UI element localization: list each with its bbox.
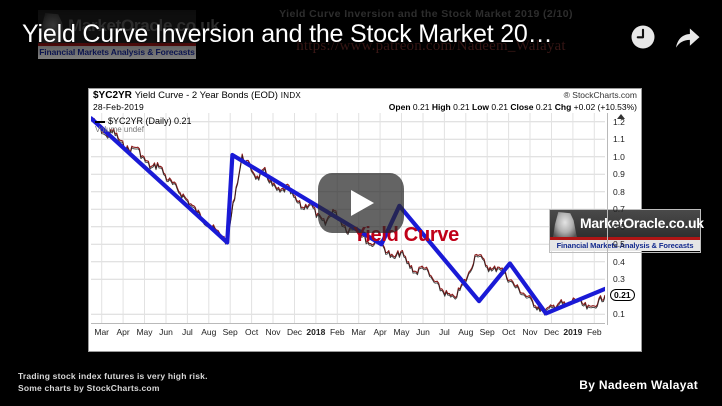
risk-disclaimer: Trading stock index futures is very high… <box>18 370 208 394</box>
x-axis-tick: Nov <box>265 327 280 337</box>
chart-date: 28-Feb-2019 <box>93 102 144 112</box>
x-axis-tick: Jul <box>182 327 193 337</box>
chart-volume-legend: Volume undef <box>95 125 144 134</box>
play-triangle-icon <box>351 190 374 216</box>
disclaimer-line-2: Some charts by StockCharts.com <box>18 382 208 394</box>
chart-ohlc-row: Open 0.21 High 0.21 Low 0.21 Close 0.21 … <box>389 102 637 112</box>
disclaimer-line-1: Trading stock index futures is very high… <box>18 370 208 382</box>
x-axis-tick: Apr <box>373 327 386 337</box>
chart-symbol: $YC2YR <box>93 90 132 101</box>
video-player[interactable]: MarketOracle.co.uk Financial Markets Ana… <box>0 0 722 406</box>
x-axis-tick: May <box>393 327 409 337</box>
ohlc-open-value: 0.21 <box>413 102 430 112</box>
chart-exchange: INDX <box>281 91 301 100</box>
y-axis-tick: 0.3 <box>613 274 625 284</box>
x-axis-tick: Jun <box>416 327 430 337</box>
y-axis-tick: 0.7 <box>613 204 625 214</box>
y-axis-tick: 0.1 <box>613 309 625 319</box>
slide-title: Yield Curve Inversion and the Stock Mark… <box>216 8 636 20</box>
clock-icon <box>628 22 658 52</box>
ohlc-close-label: Close <box>510 102 533 112</box>
share-arrow-icon <box>672 22 702 52</box>
chart-y-axis: 1.21.11.00.90.80.70.60.50.40.30.10.21 <box>607 113 640 325</box>
ohlc-high-value: 0.21 <box>453 102 470 112</box>
y-axis-last-value-badge: 0.21 <box>610 289 635 301</box>
x-axis-tick: Mar <box>351 327 366 337</box>
author-byline: By Nadeem Walayat <box>579 378 698 392</box>
watermark-brand-text: MarketOracle.co.uk <box>580 215 704 231</box>
ohlc-high-label: High <box>432 102 451 112</box>
x-axis-tick: May <box>136 327 152 337</box>
y-axis-tick: 0.5 <box>613 239 625 249</box>
y-axis-tick: 1.0 <box>613 152 625 162</box>
y-axis-tick: 0.6 <box>613 222 625 232</box>
legend-dash-icon <box>95 121 105 123</box>
ohlc-chg-label: Chg <box>555 102 572 112</box>
x-axis-tick: Oct <box>502 327 515 337</box>
chart-description: Yield Curve - 2 Year Bonds (EOD) <box>135 90 278 101</box>
ohlc-open-label: Open <box>389 102 411 112</box>
x-axis-tick: Feb <box>587 327 602 337</box>
watch-later-icon[interactable] <box>628 22 658 52</box>
share-button[interactable] <box>672 22 702 52</box>
x-axis-tick: 2018 <box>306 327 325 337</box>
y-axis-tick: 0.8 <box>613 187 625 197</box>
x-axis-tick: Feb <box>330 327 345 337</box>
x-axis-tick: Nov <box>522 327 537 337</box>
x-axis-tick: Aug <box>458 327 473 337</box>
x-axis-tick: Dec <box>544 327 559 337</box>
x-axis-tick: Oct <box>245 327 258 337</box>
x-axis-tick: Jul <box>439 327 450 337</box>
x-axis-tick: Sep <box>223 327 238 337</box>
ohlc-close-value: 0.21 <box>536 102 553 112</box>
x-axis-tick: Apr <box>116 327 129 337</box>
x-axis-tick: Jun <box>159 327 173 337</box>
x-axis-tick: Dec <box>287 327 302 337</box>
y-axis-tick: 0.4 <box>613 257 625 267</box>
chart-source: ® StockCharts.com <box>564 90 637 100</box>
x-axis-tick: Mar <box>94 327 109 337</box>
player-video-title[interactable]: Yield Curve Inversion and the Stock Mark… <box>22 20 582 49</box>
ohlc-low-value: 0.21 <box>491 102 508 112</box>
ohlc-chg-value: +0.02 (+10.53%) <box>574 102 637 112</box>
chart-x-axis: MarAprMayJunJulAugSepOctNovDec2018FebMar… <box>91 323 605 346</box>
y-axis-tick: 0.9 <box>613 169 625 179</box>
x-axis-tick: 2019 <box>563 327 582 337</box>
ohlc-low-label: Low <box>472 102 489 112</box>
y-axis-tick: 1.2 <box>613 117 625 127</box>
x-axis-tick: Sep <box>480 327 495 337</box>
chart-symbol-line: $YC2YR Yield Curve - 2 Year Bonds (EOD) … <box>93 90 301 101</box>
play-button[interactable] <box>318 173 404 233</box>
y-axis-tick: 1.1 <box>613 134 625 144</box>
x-axis-tick: Aug <box>201 327 216 337</box>
